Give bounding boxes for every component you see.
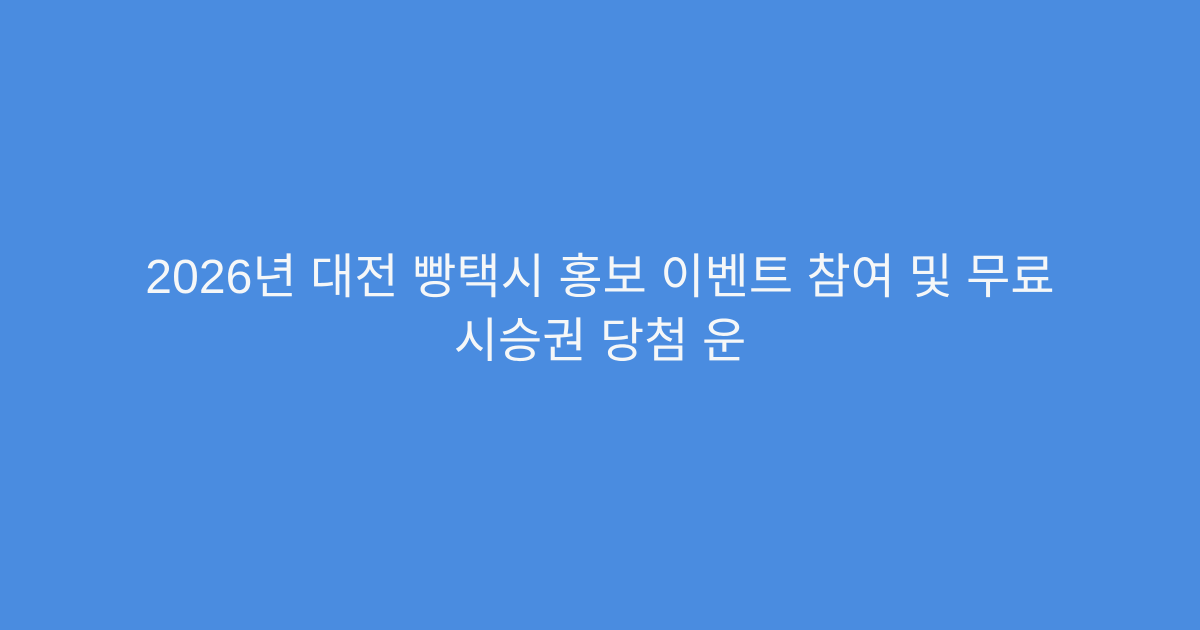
page-title: 2026년 대전 빵택시 홍보 이벤트 참여 및 무료 시승권 당첨 운 bbox=[100, 246, 1100, 374]
social-share-card: 2026년 대전 빵택시 홍보 이벤트 참여 및 무료 시승권 당첨 운 bbox=[0, 0, 1200, 630]
headline-block: 2026년 대전 빵택시 홍보 이벤트 참여 및 무료 시승권 당첨 운 bbox=[100, 246, 1100, 374]
